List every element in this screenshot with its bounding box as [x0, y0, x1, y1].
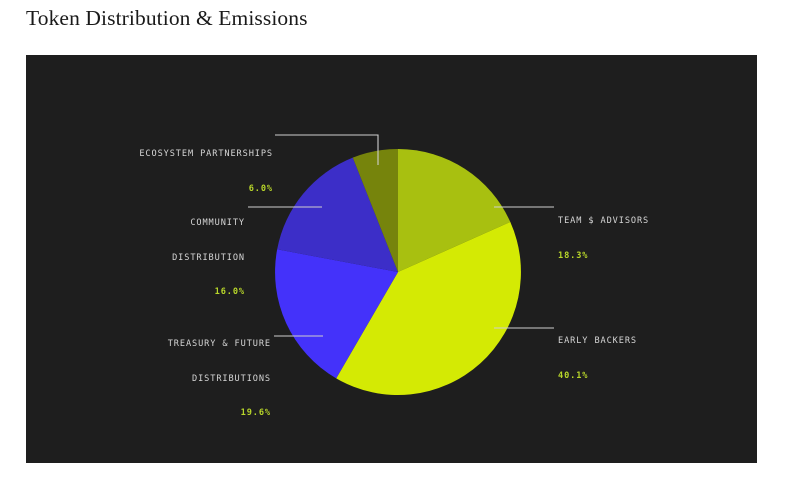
- pie-slices: [275, 149, 521, 395]
- pie-label-text-treasury-line2: DISTRIBUTIONS: [26, 374, 271, 386]
- page-title: Token Distribution & Emissions: [26, 6, 308, 31]
- pie-label-text-team-advisors: TEAM $ ADVISORS: [558, 216, 748, 228]
- pie-label-community-distribution: COMMUNITY DISTRIBUTION 16.0%: [26, 195, 245, 322]
- pie-value-treasury-future-distributions: 19.6%: [26, 408, 271, 420]
- pie-chart-panel: ECOSYSTEM PARTNERSHIPS 6.0% COMMUNITY DI…: [26, 55, 757, 463]
- pie-label-text-community-distribution-line2: DISTRIBUTION: [26, 253, 245, 265]
- pie-label-treasury-future-distributions: TREASURY & FUTURE DISTRIBUTIONS 19.6%: [26, 316, 271, 443]
- pie-label-text-ecosystem-partnerships: ECOSYSTEM PARTNERSHIPS: [26, 149, 273, 161]
- pie-label-early-backers: EARLY BACKERS 40.1%: [558, 313, 748, 405]
- pie-label-team-advisors: TEAM $ ADVISORS 18.3%: [558, 193, 748, 285]
- pie-value-team-advisors: 18.3%: [558, 251, 748, 263]
- pie-value-community-distribution: 16.0%: [26, 287, 245, 299]
- pie-value-early-backers: 40.1%: [558, 371, 748, 383]
- pie-value-ecosystem-partnerships: 6.0%: [26, 184, 273, 196]
- pie-label-text-early-backers: EARLY BACKERS: [558, 336, 748, 348]
- pie-label-text-community-distribution-line1: COMMUNITY: [26, 218, 245, 230]
- pie-label-text-treasury-line1: TREASURY & FUTURE: [26, 339, 271, 351]
